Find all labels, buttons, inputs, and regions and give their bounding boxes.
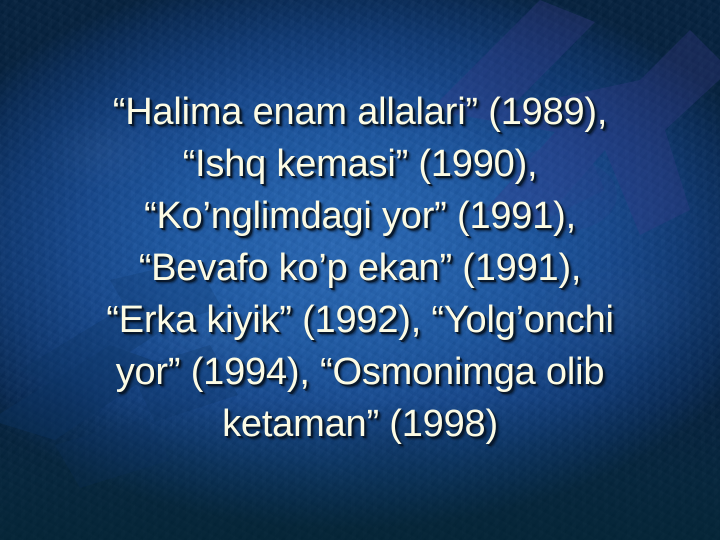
body-line: “Bevafo ko’p ekan” (1991), [10, 242, 710, 294]
body-line: “Erka kiyik” (1992), “Yolg’onchi [10, 294, 710, 346]
slide-body-text: “Halima enam allalari” (1989), “Ishq kem… [0, 86, 720, 450]
body-line: “Halima enam allalari” (1989), [10, 86, 710, 138]
body-line: ketaman” (1998) [10, 398, 710, 450]
body-line: “Ko’nglimdagi yor” (1991), [10, 190, 710, 242]
presentation-slide: “Halima enam allalari” (1989), “Ishq kem… [0, 0, 720, 540]
body-line: yor” (1994), “Osmonimga olib [10, 346, 710, 398]
body-line: “Ishq kemasi” (1990), [10, 138, 710, 190]
